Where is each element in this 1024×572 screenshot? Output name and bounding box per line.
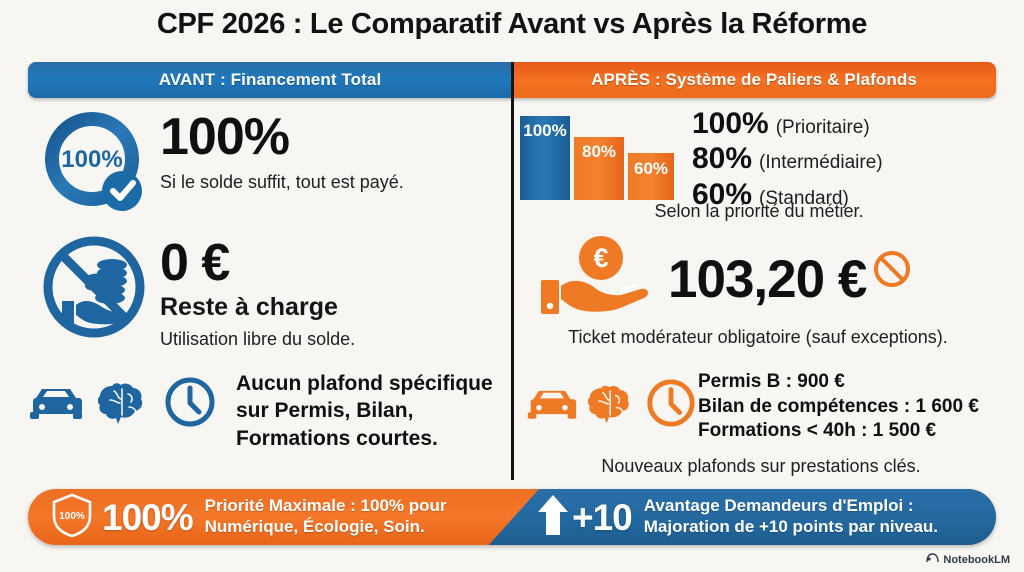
header-avant-label: AVANT : Financement Total [159, 70, 382, 90]
banner-right-big: +10 [572, 499, 632, 536]
right-block-ticket: € 103,20 € [532, 234, 912, 318]
banner-left-line1: Priorité Maximale : 100% pour [205, 496, 447, 517]
svg-text:100%: 100% [523, 121, 566, 140]
header-apres: APRÈS : Système de Paliers & Plafonds [512, 62, 996, 98]
banner-right-line1: Avantage Demandeurs d'Emploi : [644, 496, 938, 517]
prohibition-icon [872, 249, 912, 294]
banner-left-big: 100% [102, 499, 193, 536]
banner-right-line2: Majoration de +10 points par niveau. [644, 517, 938, 538]
notebooklm-icon [926, 552, 939, 567]
left-plafond-line-3: Formations courtes. [236, 425, 493, 452]
hand-euro-coin-icon: € [532, 234, 668, 318]
tier-row-prioritaire: 100% (Prioritaire) [692, 108, 883, 140]
tier-row-intermediaire: 80% (Intermédiaire) [692, 143, 883, 175]
brain-icon [588, 382, 636, 429]
left-caption-solde: Utilisation libre du solde. [160, 328, 355, 351]
shield-100-icon: 100% [50, 492, 94, 543]
page-title: CPF 2026 : Le Comparatif Avant vs Après … [0, 8, 1024, 41]
svg-text:100%: 100% [61, 146, 122, 173]
percent-circle-check-icon: 100% [28, 105, 160, 215]
tier-label-1: (Prioritaire) [776, 116, 870, 140]
no-payment-hand-coins-icon [28, 233, 160, 339]
left-block-plafonds: Aucun plafond spécifique sur Permis, Bil… [28, 368, 493, 452]
column-divider [511, 62, 514, 480]
svg-text:80%: 80% [582, 142, 616, 161]
clock-icon [646, 378, 696, 433]
right-plafond-line-3: Formations < 40h : 1 500 € [698, 419, 979, 444]
left-icon-trio [28, 368, 236, 433]
brain-icon [98, 380, 150, 429]
left-block-100-percent: 100% 100% Si le solde suffit, tout est p… [28, 105, 404, 215]
watermark: NotebookLM [926, 552, 1010, 567]
banner-right-avantage: +10 Avantage Demandeurs d'Emploi : Major… [510, 489, 996, 545]
left-headline-100: 100% [160, 111, 404, 163]
svg-text:€: € [593, 243, 608, 273]
left-column-avant: 100% 100% Si le solde suffit, tout est p… [28, 100, 508, 480]
clock-icon [164, 376, 216, 433]
right-caption-ticket: Ticket modérateur obligatoire (sauf exce… [568, 327, 948, 347]
right-icon-trio [526, 368, 698, 433]
tier-label-2: (Intermédiaire) [759, 151, 883, 175]
left-caption-100: Si le solde suffit, tout est payé. [160, 171, 404, 194]
right-caption-paliers: Selon la priorité du métier. [654, 201, 863, 221]
left-plafond-line-1: Aucun plafond spécifique [236, 370, 493, 397]
left-plafond-line-2: sur Permis, Bilan, [236, 397, 493, 424]
svg-text:100%: 100% [59, 511, 85, 522]
svg-text:60%: 60% [634, 159, 668, 178]
watermark-label: NotebookLM [943, 554, 1010, 566]
right-caption-plafonds: Nouveaux plafonds sur prestations clés. [601, 456, 920, 476]
left-block-reste-a-charge: 0 € Reste à charge Utilisation libre du … [28, 233, 355, 350]
right-plafond-line-2: Bilan de compétences : 1 600 € [698, 395, 979, 420]
banner-left-line2: Numérique, Écologie, Soin. [205, 517, 447, 538]
right-column-apres: 100% 80% 60% 100% (Prioritaire) 80% (Int… [516, 100, 998, 480]
bar-chart-icon: 100% 80% 60% [516, 102, 692, 207]
banner-left-priorite: 100% 100% Priorité Maximale : 100% pour … [28, 489, 510, 545]
header-apres-label: APRÈS : Système de Paliers & Plafonds [591, 70, 917, 90]
left-subhead-reste: Reste à charge [160, 293, 355, 322]
right-plafond-line-1: Permis B : 900 € [698, 370, 979, 395]
right-block-paliers: 100% 80% 60% 100% (Prioritaire) 80% (Int… [516, 102, 883, 211]
bottom-banner: 100% 100% Priorité Maximale : 100% pour … [28, 489, 996, 545]
right-block-plafonds: Permis B : 900 € Bilan de compétences : … [526, 368, 979, 444]
car-icon [28, 382, 84, 427]
arrow-up-icon [536, 493, 570, 542]
tier-value-2: 80% [692, 143, 752, 175]
tier-value-1: 100% [692, 108, 769, 140]
left-headline-0eur: 0 € [160, 237, 355, 289]
car-icon [526, 384, 578, 427]
right-headline-amount: 103,20 € [668, 253, 866, 306]
header-avant: AVANT : Financement Total [28, 62, 512, 98]
